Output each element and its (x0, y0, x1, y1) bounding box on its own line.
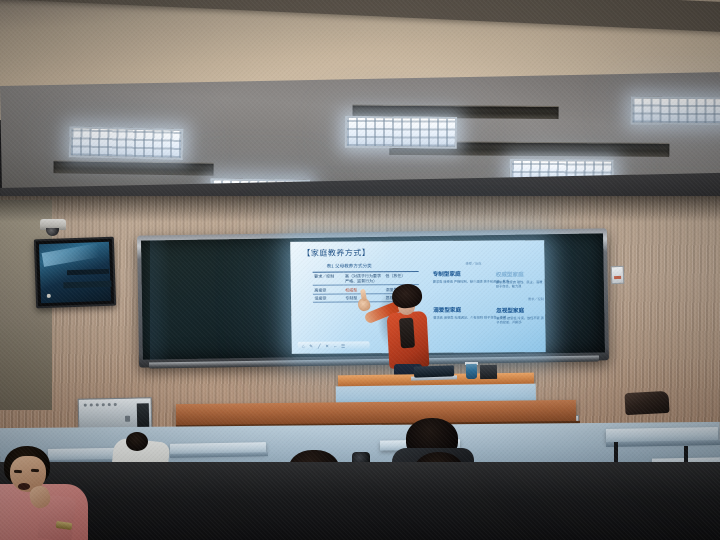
air-vent-1 (54, 160, 214, 176)
quadrant-bottom-right: 忽视型家庭 要求低·接受低 冷漠、放任不管 孩子自控差、问题多 (496, 306, 545, 325)
table-cell: 低接受 (313, 294, 344, 303)
bag-on-counter[interactable] (624, 391, 669, 415)
cabinet-latch[interactable] (125, 416, 130, 422)
wall-monitor[interactable] (34, 237, 116, 309)
lecture-hall-screenshot: 【家庭教养方式】 表1 父母教养方式分类 要求／控制 高（对孩子行为要求严格、监… (0, 0, 720, 540)
wall-top-shadow (0, 196, 720, 222)
quadrant-sublabel: 要求低·接受低 冷漠、放任不管 孩子自控差、问题多 (496, 316, 545, 326)
eraser-icon[interactable]: ✕ (325, 343, 330, 348)
podium-device-box[interactable] (480, 365, 497, 379)
pen-icon[interactable]: ✎ (309, 343, 314, 348)
lecturer-inner-shirt (399, 318, 415, 349)
slide-title: 【家庭教养方式】 (302, 247, 370, 258)
wall-switch-panel[interactable] (611, 266, 625, 284)
table-cell: 高接受 (313, 285, 344, 294)
blackboard-left-glow (150, 240, 170, 360)
highlighter-icon[interactable]: ╱ (317, 343, 322, 348)
indicator-dot (90, 403, 93, 406)
indicator-dot (114, 403, 117, 406)
quadrant-label: 忽视型家庭 (496, 306, 545, 314)
indicator-dot (102, 403, 105, 406)
quadrant-sublabel: 要求高·接受高 理性、民主、温暖 孩子自信、能力强 (496, 280, 545, 290)
audience-front-left-eye-left (14, 470, 22, 474)
audience-front-left-eye-right (31, 469, 39, 473)
switch-indicator (614, 276, 621, 279)
ceiling-light-5 (631, 97, 720, 126)
cabinet-indicator-dots (84, 403, 117, 407)
indicator-dot (108, 403, 111, 406)
ceiling-light-1 (69, 126, 184, 160)
axis-note-acceptance: 接受／反应 (465, 261, 481, 266)
table-cell: 要求／控制 (313, 272, 344, 286)
menu-icon[interactable]: ☰ (341, 343, 346, 348)
undo-icon[interactable]: ← (333, 343, 338, 348)
ceiling-light-3 (345, 116, 457, 149)
audience-back-left-head (126, 432, 148, 451)
quadrant-label: 权威型家庭 (496, 270, 545, 278)
drink-cup[interactable] (466, 364, 477, 379)
front-dark-foreground (0, 462, 720, 540)
audience-front-left-mouth (18, 483, 30, 490)
indicator-dot (84, 404, 87, 407)
quadrant-top-right: 权威型家庭 要求高·接受高 理性、民主、温暖 孩子自信、能力强 (496, 270, 545, 289)
cabinet-open-slot (137, 403, 149, 427)
slide-table-caption: 表1 父母教养方式分类 (327, 263, 421, 270)
indicator-dot (96, 403, 99, 406)
home-icon[interactable]: ⌂ (301, 343, 306, 348)
axis-note-control: 要求／控制 (528, 296, 544, 301)
whiteboard-toolbar[interactable]: ⌂ ✎ ╱ ✕ ← ☰ (298, 341, 370, 350)
lecturer-laptop[interactable] (414, 365, 454, 377)
lecturer-hair (391, 282, 423, 309)
